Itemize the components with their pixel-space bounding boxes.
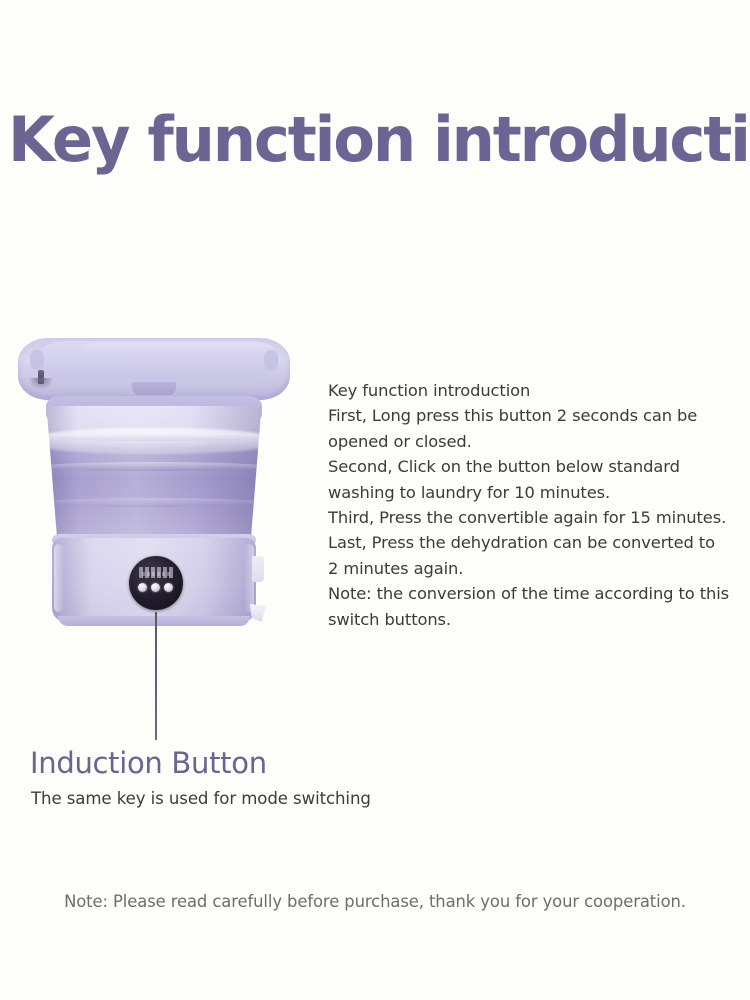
machine-lid-notch-left xyxy=(30,350,44,370)
instruction-line: opened or closed. xyxy=(328,429,746,454)
product-illustration xyxy=(14,332,294,632)
instruction-line: switch buttons. xyxy=(328,607,746,632)
machine-lid-inner xyxy=(38,341,278,379)
callout-leader-line xyxy=(155,612,157,740)
instruction-line: 2 minutes again. xyxy=(328,556,746,581)
bellows-fold-ring xyxy=(42,498,266,507)
machine-foldable-bellows xyxy=(42,406,266,546)
instruction-line: Note: the conversion of the time accordi… xyxy=(328,581,746,606)
instruction-line: Key function introduction xyxy=(328,378,746,403)
page-title: Key function introduction xyxy=(8,104,735,176)
instruction-line: washing to laundry for 10 minutes. xyxy=(328,480,746,505)
machine-lid-notch-right xyxy=(264,350,278,370)
machine-lid-handle xyxy=(132,382,176,395)
machine-base-edge-left xyxy=(54,544,64,612)
panel-shadow xyxy=(28,378,54,390)
bellows-fold-ring xyxy=(42,462,266,471)
product-info-page: Key function introduction xyxy=(0,0,750,1000)
panel-button-wash[interactable] xyxy=(151,583,160,592)
panel-button-power[interactable] xyxy=(138,583,147,592)
machine-base-foot xyxy=(58,616,250,626)
instruction-line: Last, Press the dehydration can be conve… xyxy=(328,530,746,555)
bellows-highlight xyxy=(44,428,262,454)
machine-lid-crease xyxy=(82,343,274,355)
drain-spout-tip xyxy=(250,604,266,622)
callout-subtitle: The same key is used for mode switching xyxy=(31,787,371,811)
instruction-line: First, Long press this button 2 seconds … xyxy=(328,403,746,428)
footer-note: Note: Please read carefully before purch… xyxy=(0,890,750,914)
mini-washing-machine-graphic xyxy=(14,332,294,632)
drain-spout xyxy=(252,556,264,582)
instruction-line: Third, Press the convertible again for 1… xyxy=(328,505,746,530)
callout-title: Induction Button xyxy=(30,744,267,782)
instruction-line: Second, Click on the button below standa… xyxy=(328,454,746,479)
panel-button-dehydration[interactable] xyxy=(164,583,173,592)
induction-button-panel[interactable] xyxy=(129,556,183,610)
panel-legend-text-secondary xyxy=(142,572,170,576)
key-function-instructions: Key function introduction First, Long pr… xyxy=(328,378,746,632)
